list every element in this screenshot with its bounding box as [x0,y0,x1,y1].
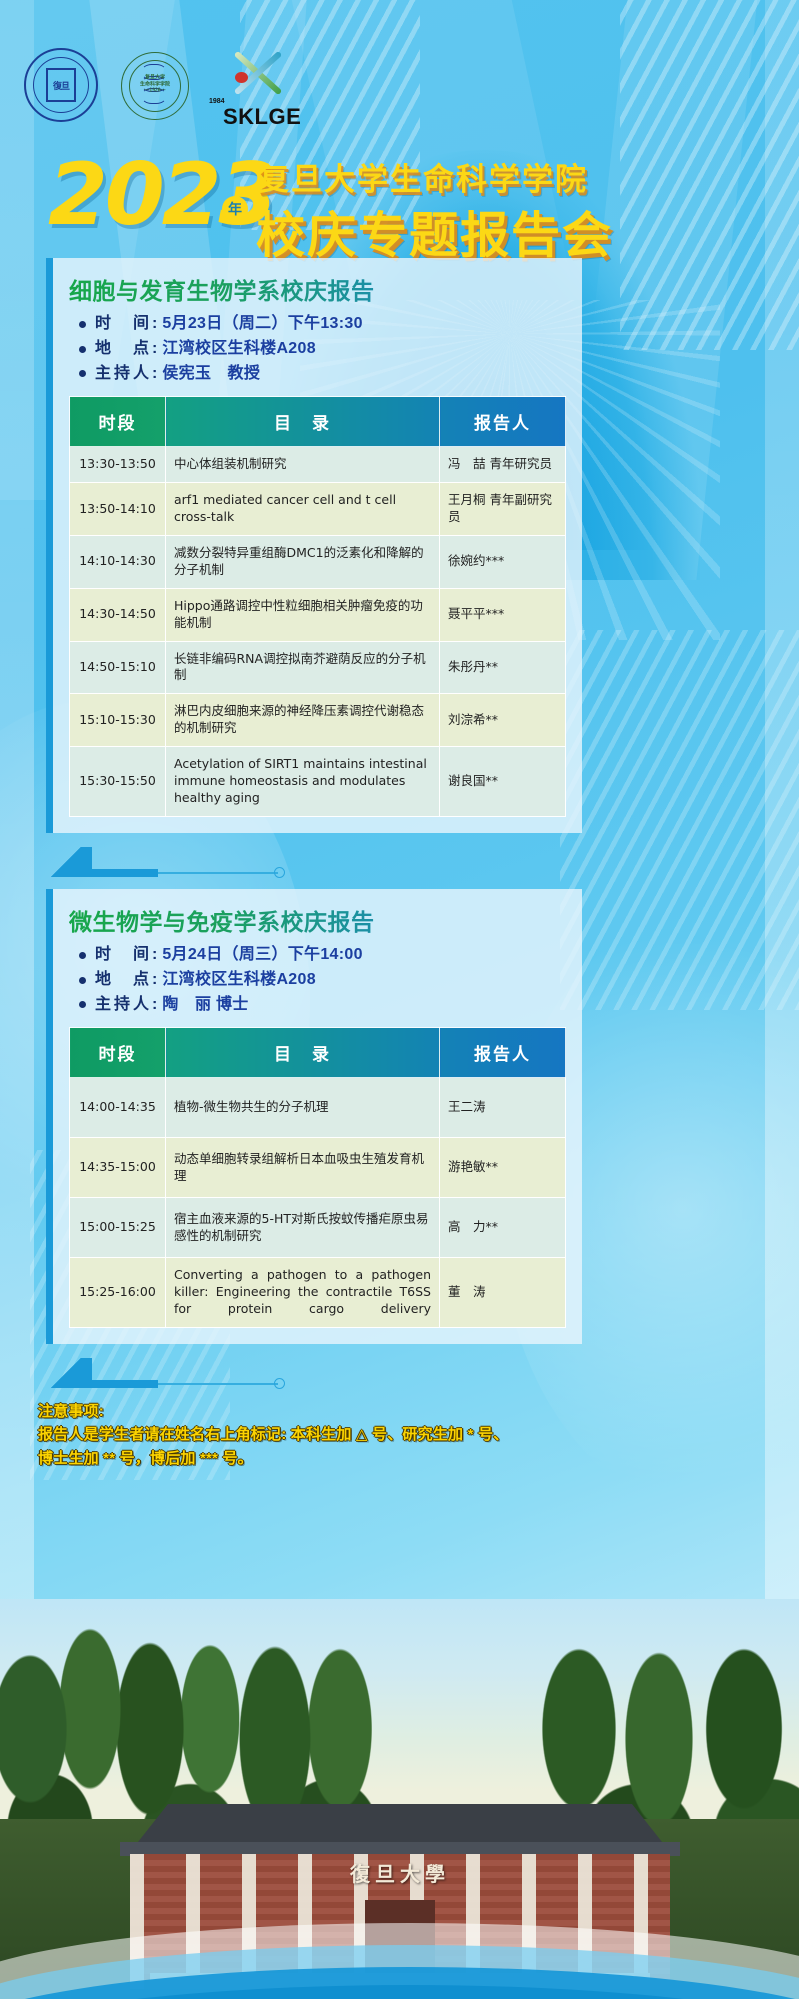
meta-key: 地 点: [95,337,160,362]
cell-speaker: 高 力** [440,1198,566,1258]
year-text: 2023 [48,152,275,238]
section-card-2: 微生物学与免疫学系校庆报告 时 间:5月24日（周三）下午14:00 地 点:江… [46,889,582,1344]
column-header-speaker: 报告人 [440,1028,566,1078]
cell-time: 14:10-14:30 [70,536,166,589]
table-row: 15:30-15:50Acetylation of SIRT1 maintain… [70,747,566,817]
cell-topic: Hippo通路调控中性粒细胞相关肿瘤免疫的功能机制 [166,588,440,641]
cell-speaker: 王月桐 青年副研究员 [440,483,566,536]
cell-time: 14:35-15:00 [70,1138,166,1198]
note-line-2: 博士生加 ** 号，博后加 *** 号。 [38,1447,598,1470]
column-header-speaker: 报告人 [440,397,566,447]
meta-item: 地 点:江湾校区生科楼A208 [79,337,566,362]
cell-time: 13:50-14:10 [70,483,166,536]
school-of-life-sciences-logo-icon: 复旦大学生命科学学院—1926— [115,46,195,126]
cell-speaker: 王二涛 [440,1078,566,1138]
cell-time: 15:00-15:25 [70,1198,166,1258]
campus-photo: 復旦大學 [0,1599,799,1999]
footer-note: 注意事项: 报告人是学生者请在姓名右上角标记: 本科生加 △ 号、研究生加 * … [38,1400,598,1470]
meta-value: 江湾校区生科楼A208 [162,968,316,993]
section-card-1: 细胞与发育生物学系校庆报告 时 间:5月23日（周二）下午13:30 地 点:江… [46,258,582,833]
bullet-icon [79,346,86,353]
table-row: 15:00-15:25宿主血液来源的5-HT对斯氏按蚊传播疟原虫易感性的机制研究… [70,1198,566,1258]
cell-topic: 淋巴内皮细胞来源的神经降压素调控代谢稳态的机制研究 [166,694,440,747]
table-row: 15:25-16:00Converting a pathogen to a pa… [70,1258,566,1328]
cell-speaker: 朱彤丹** [440,641,566,694]
bullet-icon [79,321,86,328]
section-2-meta: 时 间:5月24日（周三）下午14:00 地 点:江湾校区生科楼A208 主持人… [79,943,566,1017]
title-line-2: 校庆专题报告会 [256,196,613,267]
meta-key: 主持人: [95,362,160,387]
meta-value: 侯宪玉 教授 [162,362,260,387]
cell-topic: Converting a pathogen to a pathogen kill… [166,1258,440,1328]
poster-title: 2023 年 复旦大学生命科学学院 校庆专题报告会 [0,150,799,270]
connector-ornament-1 [46,847,476,881]
sklge-logo-icon: 1984 SKLGE [205,44,311,128]
sklge-label: SKLGE [223,104,301,130]
cell-time: 15:10-15:30 [70,694,166,747]
cell-topic: arf1 mediated cancer cell and t cell cro… [166,483,440,536]
fudan-building: 復旦大學 [110,1804,690,1989]
cell-topic: 减数分裂特异重组酶DMC1的泛素化和降解的分子机制 [166,536,440,589]
logo-row: 復旦 复旦大学生命科学学院—1926— 1984 SKLGE [0,46,799,126]
note-heading: 注意事项: [38,1400,598,1423]
meta-item: 时 间:5月24日（周三）下午14:00 [79,943,566,968]
meta-item: 时 间:5月23日（周二）下午13:30 [79,312,566,337]
bullet-icon [79,1001,86,1008]
meta-key: 时 间: [95,312,160,337]
poster-root: 復旦 复旦大学生命科学学院—1926— 1984 SKLGE 2023 年 复旦… [0,0,799,1999]
note-line-1: 报告人是学生者请在姓名右上角标记: 本科生加 △ 号、研究生加 * 号、 [38,1423,598,1446]
table-row: 14:00-14:35植物-微生物共生的分子机理王二涛 [70,1078,566,1138]
table-header-row: 时段 目 录 报告人 [70,397,566,447]
column-header-topic: 目 录 [166,1028,440,1078]
table-row: 13:50-14:10arf1 mediated cancer cell and… [70,483,566,536]
meta-value: 江湾校区生科楼A208 [162,337,316,362]
meta-key: 主持人: [95,993,160,1018]
column-header-time: 时段 [70,1028,166,1078]
bullet-icon [79,977,86,984]
fudan-university-seal-icon: 復旦 [24,48,98,122]
table-row: 13:30-13:50中心体组装机制研究冯 喆 青年研究员 [70,447,566,483]
cell-speaker: 冯 喆 青年研究员 [440,447,566,483]
meta-item: 主持人:陶 丽 博士 [79,993,566,1018]
meta-value: 陶 丽 博士 [162,993,248,1018]
table-row: 14:10-14:30减数分裂特异重组酶DMC1的泛素化和降解的分子机制徐婉约*… [70,536,566,589]
cell-topic: 宿主血液来源的5-HT对斯氏按蚊传播疟原虫易感性的机制研究 [166,1198,440,1258]
cell-speaker: 董 涛 [440,1258,566,1328]
meta-value: 5月23日（周二）下午13:30 [162,312,362,337]
column-header-topic: 目 录 [166,397,440,447]
cell-speaker: 游艳敏** [440,1138,566,1198]
meta-item: 主持人:侯宪玉 教授 [79,362,566,387]
year-suffix-badge: 年 [222,196,248,222]
meta-value: 5月24日（周三）下午14:00 [162,943,362,968]
cell-time: 14:30-14:50 [70,588,166,641]
section-1-title: 细胞与发育生物学系校庆报告 [69,272,566,306]
cell-topic: Acetylation of SIRT1 maintains intestina… [166,747,440,817]
cell-time: 15:25-16:00 [70,1258,166,1328]
meta-key: 地 点: [95,968,160,993]
meta-key: 时 间: [95,943,160,968]
cell-time: 14:00-14:35 [70,1078,166,1138]
cell-speaker: 谢良国** [440,747,566,817]
cell-time: 13:30-13:50 [70,447,166,483]
cell-topic: 动态单细胞转录组解析日本血吸虫生殖发育机理 [166,1138,440,1198]
cell-speaker: 聂平平*** [440,588,566,641]
cell-topic: 中心体组装机制研究 [166,447,440,483]
connector-ornament-2 [46,1358,476,1392]
cell-time: 14:50-15:10 [70,641,166,694]
table-row: 15:10-15:30淋巴内皮细胞来源的神经降压素调控代谢稳态的机制研究刘淙希*… [70,694,566,747]
bullet-icon [79,370,86,377]
cell-topic: 植物-微生物共生的分子机理 [166,1078,440,1138]
section-1-meta: 时 间:5月23日（周二）下午13:30 地 点:江湾校区生科楼A208 主持人… [79,312,566,386]
schedule-table-2: 时段 目 录 报告人 14:00-14:35植物-微生物共生的分子机理王二涛 1… [69,1027,566,1328]
title-line-1: 复旦大学生命科学学院 [258,154,588,199]
cell-topic: 长链非编码RNA调控拟南芥避荫反应的分子机制 [166,641,440,694]
schedule-table-1: 时段 目 录 报告人 13:30-13:50中心体组装机制研究冯 喆 青年研究员… [69,396,566,816]
table-row: 14:35-15:00动态单细胞转录组解析日本血吸虫生殖发育机理游艳敏** [70,1138,566,1198]
table-row: 14:30-14:50Hippo通路调控中性粒细胞相关肿瘤免疫的功能机制聂平平*… [70,588,566,641]
building-sign-text: 復旦大學 [310,1858,490,1892]
meta-item: 地 点:江湾校区生科楼A208 [79,968,566,993]
table-row: 14:50-15:10长链非编码RNA调控拟南芥避荫反应的分子机制朱彤丹** [70,641,566,694]
section-2-title: 微生物学与免疫学系校庆报告 [69,903,566,937]
cell-time: 15:30-15:50 [70,747,166,817]
cell-speaker: 徐婉约*** [440,536,566,589]
bullet-icon [79,952,86,959]
column-header-time: 时段 [70,397,166,447]
table-header-row: 时段 目 录 报告人 [70,1028,566,1078]
cell-speaker: 刘淙希** [440,694,566,747]
